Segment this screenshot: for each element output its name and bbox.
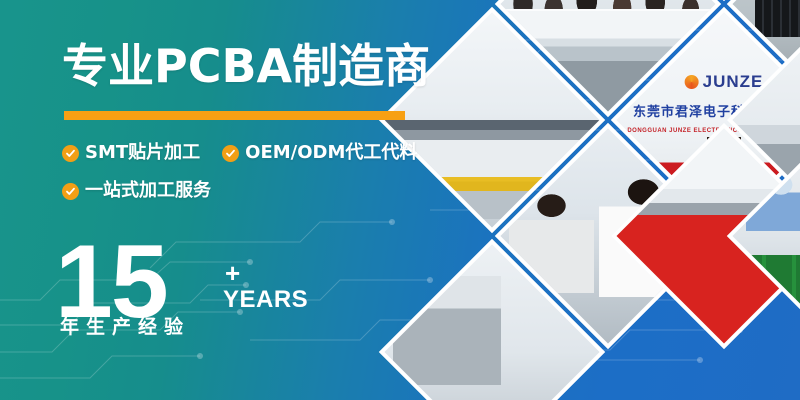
check-circle-icon bbox=[62, 183, 79, 200]
feature-item-onestop: 一站式加工服务 bbox=[62, 182, 211, 200]
feature-row: 一站式加工服务 bbox=[62, 176, 462, 206]
experience-unit-en: YEARS bbox=[223, 288, 308, 312]
photo-collage: JUNZE 东莞市君泽电子科技有限公司 DONGGUAN JUNZE ELECT… bbox=[418, 0, 800, 400]
feature-label: SMT贴片加工 bbox=[85, 144, 200, 162]
page-title: 专业PCBA制造商 bbox=[62, 42, 430, 90]
company-logo: JUNZE bbox=[685, 73, 764, 90]
promo-banner: JUNZE 东莞市君泽电子科技有限公司 DONGGUAN JUNZE ELECT… bbox=[0, 0, 800, 400]
check-circle-icon bbox=[62, 145, 79, 162]
experience-unit-cn: 年生产经验 bbox=[60, 318, 190, 337]
experience-plus: + bbox=[225, 260, 240, 286]
experience-block: 15 + YEARS 年生产经验 bbox=[55, 238, 385, 358]
title-underline-rule bbox=[64, 111, 405, 120]
feature-label: OEM/ODM代工代料 bbox=[245, 144, 417, 162]
feature-list: SMT贴片加工 OEM/ODM代工代料 一站式加工服务 bbox=[62, 138, 462, 206]
feature-item-oem: OEM/ODM代工代料 bbox=[222, 144, 417, 162]
check-circle-icon bbox=[222, 145, 239, 162]
feature-label: 一站式加工服务 bbox=[85, 182, 211, 200]
feature-row: SMT贴片加工 OEM/ODM代工代料 bbox=[62, 138, 462, 168]
feature-item-smt: SMT贴片加工 bbox=[62, 144, 200, 162]
